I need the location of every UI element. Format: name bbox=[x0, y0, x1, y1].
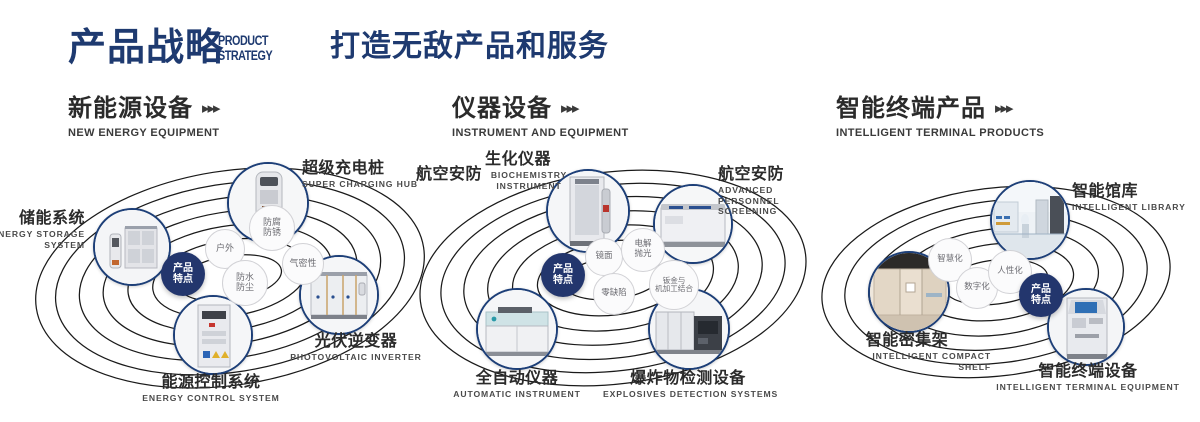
section-header-new-energy: 新能源设备 ▸▸▸ NEW ENERGY EQUIPMENT bbox=[68, 96, 219, 139]
feature-bubble-sheetmetal-machining: 钣金与机加工结合 bbox=[649, 260, 699, 310]
label-intelligent-terminal-equipment: 智能终端设备 INTELLIGENT TERMINAL EQUIPMENT bbox=[990, 363, 1186, 393]
label-photovoltaic-inverter: 光伏逆变器 PHOTOVOLTAIC INVERTER bbox=[281, 333, 431, 363]
label-cn: 储能系统 bbox=[0, 210, 85, 227]
feature-core-product-characteristics: 产品 特点 bbox=[161, 252, 205, 296]
feature-text: 人性化 bbox=[997, 267, 1023, 277]
section-title-cn: 仪器设备 bbox=[452, 96, 552, 120]
core-line1: 产品 bbox=[173, 263, 193, 274]
label-cn: 全自动仪器 bbox=[447, 370, 587, 387]
feature-text: 气密性 bbox=[289, 259, 316, 269]
label-en: PHOTOVOLTAIC INVERTER bbox=[281, 352, 431, 363]
label-en: EXPLOSIVES DETECTION SYSTEMS bbox=[603, 389, 773, 400]
control-cabinet-icon bbox=[175, 297, 251, 373]
feature-bubble-mirror-finish: 镜面 bbox=[585, 238, 623, 276]
library-room-icon bbox=[992, 182, 1068, 258]
section-title-cn: 新能源设备 bbox=[68, 96, 193, 120]
cluster-intelligent-terminal: 智能馆库 INTELLIGENT LIBRARY 智能密集架 INTELLIGE… bbox=[800, 148, 1200, 408]
section-title-cn: 智能终端产品 bbox=[836, 96, 986, 120]
label-en: ENERGY STORAGESYSTEM bbox=[0, 229, 85, 250]
page-title: 产品战略 bbox=[68, 28, 224, 66]
node-intelligent-library[interactable] bbox=[990, 180, 1070, 260]
page-subtitle: 打造无敌产品和服务 bbox=[330, 32, 609, 62]
feature-core-product-characteristics: 产品 特点 bbox=[1019, 273, 1063, 317]
feature-bubble-waterproof-dustproof: 防水防尘 bbox=[222, 260, 268, 306]
feature-bubble-anticorrosion: 防腐防锈 bbox=[249, 205, 295, 251]
section-title-en: INSTRUMENT AND EQUIPMENT bbox=[452, 127, 629, 139]
label-en: BIOCHEMISTRYINSTRUMENT bbox=[489, 170, 569, 191]
section-title-en: NEW ENERGY EQUIPMENT bbox=[68, 127, 219, 139]
label-super-charging-hub: 超级充电桩 SUPER CHARGING HUB bbox=[302, 160, 418, 190]
node-automatic-instrument[interactable] bbox=[476, 288, 558, 370]
core-line2: 特点 bbox=[553, 275, 573, 286]
label-en: INTELLIGENT TERMINAL EQUIPMENT bbox=[990, 382, 1186, 393]
auto-analyzer-icon bbox=[478, 290, 556, 368]
label-cn: 智能密集架 bbox=[823, 332, 991, 349]
label-en: INTELLIGENT LIBRARY bbox=[1072, 202, 1186, 213]
page-title-en-line1: PRODUCT bbox=[218, 33, 272, 48]
battery-cabinet-icon bbox=[95, 210, 169, 284]
feature-text: 零缺陷 bbox=[601, 289, 627, 299]
label-energy-storage-system: 储能系统 ENERGY STORAGESYSTEM bbox=[0, 210, 85, 250]
section-title-en: INTELLIGENT TERMINAL PRODUCTS bbox=[836, 127, 1044, 139]
label-cn: 爆炸物检测设备 bbox=[603, 370, 773, 387]
label-explosives-detection: 爆炸物检测设备 EXPLOSIVES DETECTION SYSTEMS bbox=[603, 370, 773, 400]
feature-bubble-zero-defect: 零缺陷 bbox=[593, 273, 635, 315]
label-en: INTELLIGENT COMPACTSHELF bbox=[823, 351, 991, 372]
feature-text: 户外 bbox=[216, 244, 234, 254]
label-en: AUTOMATIC INSTRUMENT bbox=[447, 389, 587, 400]
label-en: ENERGY CONTROL SYSTEM bbox=[126, 393, 296, 404]
feature-bubble-airtightness: 气密性 bbox=[282, 243, 324, 285]
label-cn: 智能终端设备 bbox=[990, 363, 1186, 380]
label-energy-control-system: 能源控制系统 ENERGY CONTROL SYSTEM bbox=[126, 374, 296, 404]
product-strategy-infographic: 产品战略 PRODUCT STRATEGY 打造无敌产品和服务 新能源设备 ▸▸… bbox=[0, 0, 1200, 422]
chevrons-icon: ▸▸▸ bbox=[561, 99, 578, 117]
feature-core-product-characteristics: 产品 特点 bbox=[541, 253, 585, 297]
section-header-intelligent-terminal: 智能终端产品 ▸▸▸ INTELLIGENT TERMINAL PRODUCTS bbox=[836, 96, 1044, 139]
label-cn: 超级充电桩 bbox=[302, 160, 418, 177]
page-title-en-line2: STRATEGY bbox=[218, 48, 272, 63]
core-line2: 特点 bbox=[1031, 295, 1051, 306]
label-cn: 生化仪器 bbox=[485, 151, 569, 168]
feature-text: 智慧化 bbox=[937, 255, 963, 265]
cluster-instrument: 生化仪器 BIOCHEMISTRYINSTRUMENT 航空安防 航空安防 AD… bbox=[413, 148, 813, 408]
section-header-instrument: 仪器设备 ▸▸▸ INSTRUMENT AND EQUIPMENT bbox=[452, 96, 629, 139]
cluster-new-energy: 储能系统 ENERGY STORAGESYSTEM 超级充电桩 SUPER CH… bbox=[30, 148, 430, 408]
label-automatic-instrument: 全自动仪器 AUTOMATIC INSTRUMENT bbox=[447, 370, 587, 400]
label-intelligent-library: 智能馆库 INTELLIGENT LIBRARY bbox=[1072, 183, 1186, 213]
node-energy-storage-system[interactable] bbox=[93, 208, 171, 286]
label-cn: 航空安防 bbox=[416, 166, 482, 183]
label-intelligent-compact-shelf: 智能密集架 INTELLIGENT COMPACTSHELF bbox=[823, 332, 991, 372]
node-energy-control-system[interactable] bbox=[173, 295, 253, 375]
label-cn: 光伏逆变器 bbox=[281, 333, 431, 350]
label-cn: 智能馆库 bbox=[1072, 183, 1186, 200]
chevrons-icon: ▸▸▸ bbox=[202, 99, 219, 117]
label-aviation-security-left: 航空安防 bbox=[416, 166, 482, 183]
label-biochemistry-instrument: 生化仪器 BIOCHEMISTRYINSTRUMENT bbox=[485, 151, 569, 191]
label-cn: 能源控制系统 bbox=[126, 374, 296, 391]
chevrons-icon: ▸▸▸ bbox=[995, 99, 1012, 117]
label-en: SUPER CHARGING HUB bbox=[302, 179, 418, 190]
core-line2: 特点 bbox=[173, 274, 193, 285]
core-line1: 产品 bbox=[1031, 284, 1051, 295]
page-title-en: PRODUCT STRATEGY bbox=[218, 33, 272, 63]
feature-text: 数字化 bbox=[964, 283, 990, 293]
header: 产品战略 PRODUCT STRATEGY 打造无敌产品和服务 bbox=[0, 0, 1200, 90]
core-line1: 产品 bbox=[553, 264, 573, 275]
feature-text: 镜面 bbox=[595, 252, 612, 262]
